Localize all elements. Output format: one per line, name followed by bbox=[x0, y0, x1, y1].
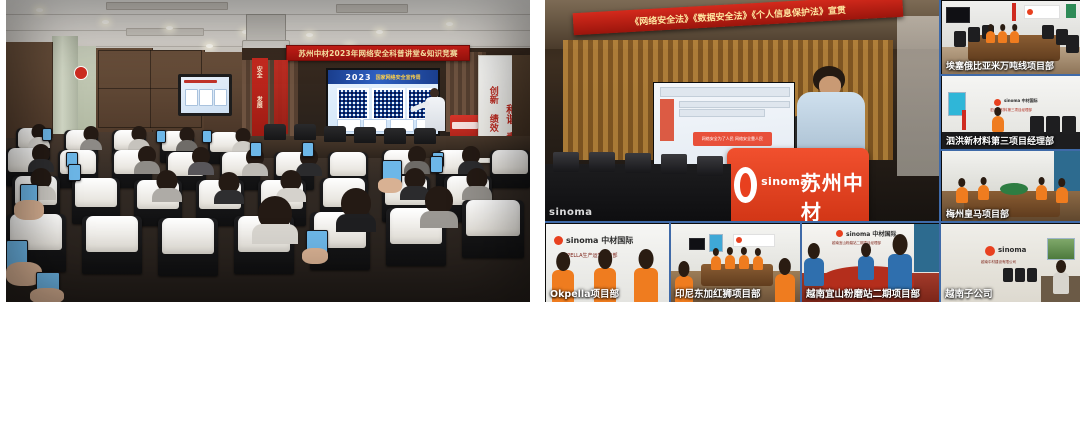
thumbnail-tile[interactable]: 印尼东加红狮项目部 bbox=[670, 223, 802, 302]
screen-row bbox=[679, 109, 765, 116]
downlight bbox=[166, 26, 173, 30]
side-screen-card bbox=[185, 89, 199, 106]
vertical-banner-red-text-2: 发展 bbox=[255, 96, 261, 108]
hand bbox=[378, 178, 402, 193]
thumbnail-tile[interactable]: 梅州皇马项目部 bbox=[941, 150, 1080, 224]
downlight bbox=[36, 8, 43, 12]
audience-member bbox=[462, 168, 492, 200]
slide-year-text: 2023 bbox=[345, 73, 371, 82]
smartphone bbox=[42, 128, 52, 141]
right-photo-video-conference: 《网络安全法》《数据安全法》《个人信息保护法》宣贯 网络安全为了人民 网络安全靠… bbox=[545, 0, 1080, 302]
grid-separator-horizontal bbox=[545, 221, 1080, 223]
smartphone bbox=[156, 130, 166, 143]
ac-vent bbox=[106, 2, 228, 10]
downlight bbox=[206, 44, 213, 48]
screen-row bbox=[679, 101, 790, 108]
side-screen-header-bar bbox=[184, 80, 218, 83]
thumbnail-tile[interactable]: sinoma 中材国际 OKPELLA生产运营项目部 Okpella项目部 bbox=[545, 223, 671, 302]
thumbnail-caption: 越南子公司 bbox=[945, 286, 993, 300]
backdrop-brand: sinoma bbox=[998, 246, 1026, 254]
audience-seat bbox=[82, 216, 142, 274]
grid-separator-vertical bbox=[939, 0, 941, 222]
delegate-monitor bbox=[661, 154, 687, 174]
delegate-monitor bbox=[697, 156, 723, 176]
thumbnail-tile[interactable]: sinoma 中材国际 泗洪新材料第三项目经理部 泗洪新材料第三项目经理部 bbox=[941, 75, 1080, 151]
thumbnail-caption: Okpella项目部 bbox=[550, 286, 619, 300]
downlight bbox=[446, 22, 453, 26]
head-chair bbox=[324, 126, 346, 142]
smartphone bbox=[302, 142, 314, 157]
grid-separator-vertical bbox=[800, 223, 802, 302]
thumbnail-caption: 印尼东加红狮项目部 bbox=[675, 286, 761, 300]
smartphone bbox=[430, 156, 443, 173]
vertical-banner-text-1: 创新 bbox=[487, 86, 497, 104]
grid-separator-vertical bbox=[669, 223, 671, 302]
downlight bbox=[376, 30, 383, 34]
wall-pillar bbox=[52, 36, 78, 134]
ac-vent bbox=[336, 4, 408, 13]
head-chair bbox=[414, 128, 436, 144]
downlight bbox=[306, 33, 313, 37]
thumbnail-tile[interactable]: 埃塞俄比亚米万吨线项目部 bbox=[941, 0, 1080, 76]
audience-seat bbox=[490, 150, 530, 188]
screen-toolbar bbox=[660, 87, 791, 97]
hand bbox=[302, 248, 328, 264]
audience-seat bbox=[158, 218, 218, 276]
audience-member bbox=[214, 172, 244, 204]
backdrop-brand: sinoma 中材国际 bbox=[846, 229, 896, 238]
grid-separator-horizontal bbox=[941, 149, 1080, 151]
no-smoking-sign-icon bbox=[74, 66, 88, 80]
audience-member bbox=[188, 147, 214, 175]
lectern-brand-cn: 苏州中材 bbox=[801, 167, 869, 223]
grid-separator-vertical bbox=[939, 223, 941, 302]
thumbnail-caption: 梅州皇马项目部 bbox=[946, 207, 1009, 220]
side-display-screen bbox=[178, 74, 232, 116]
thumbnail-caption: 泗洪新材料第三项目经理部 bbox=[946, 134, 1054, 147]
backdrop-brand: sinoma 中材国际 bbox=[566, 235, 633, 246]
smartphone bbox=[68, 164, 81, 181]
vertical-banner-red-2 bbox=[274, 60, 288, 134]
audience-seat bbox=[462, 200, 524, 258]
delegate-monitor bbox=[625, 153, 651, 173]
screen-highlight-text: 网络安全为了人民 网络安全靠人民 bbox=[702, 136, 763, 142]
wall-grid-line bbox=[150, 50, 151, 128]
feed-watermark: sinoma bbox=[549, 207, 593, 218]
lectern: sinoma 苏州中材 bbox=[727, 148, 869, 222]
slide-header: 2023 国家网络安全宣传周 bbox=[328, 70, 438, 84]
screenshot-root: 苏州中材2023年网络安全科普讲堂&知识竞赛 2023 国家网络安全宣传周 创新 bbox=[0, 0, 1080, 443]
thumbnail-caption: 越南宜山粉磨站二期项目部 bbox=[806, 286, 920, 300]
thumbnail-caption: 埃塞俄比亚米万吨线项目部 bbox=[946, 59, 1054, 72]
hand bbox=[30, 288, 64, 302]
smartphone bbox=[202, 130, 212, 143]
side-screen-card bbox=[214, 89, 228, 106]
podium-logo bbox=[452, 122, 477, 130]
smartphone bbox=[250, 142, 262, 157]
backdrop-subtitle: 越南中材建设有限公司 bbox=[981, 260, 1016, 265]
thumbnail-tile[interactable]: sinoma 越南中材建设有限公司 越南子公司 bbox=[940, 223, 1080, 302]
main-video-feed: 《网络安全法》《数据安全法》《个人信息保护法》宣贯 网络安全为了人民 网络安全靠… bbox=[545, 0, 940, 222]
thumbnail-tile[interactable]: sinoma 中材国际 越南宜山粉磨站二期项目经理部 越南宜山粉磨站二期项目部 bbox=[801, 223, 941, 302]
side-screen-card bbox=[199, 89, 213, 106]
head-chair bbox=[384, 128, 406, 144]
downlight bbox=[102, 20, 109, 24]
screen-highlight-box: 网络安全为了人民 网络安全靠人民 bbox=[693, 132, 771, 146]
audience-member bbox=[420, 186, 458, 228]
head-chair bbox=[264, 124, 286, 140]
left-photo-auditorium: 苏州中材2023年网络安全科普讲堂&知识竞赛 2023 国家网络安全宣传周 创新 bbox=[6, 0, 530, 302]
audience-member bbox=[152, 170, 182, 202]
sinoma-logo-icon bbox=[734, 167, 757, 203]
vertical-banner-text-2: 绩效 bbox=[487, 114, 497, 132]
stage-banner-text: 苏州中材2023年网络安全科普讲堂&知识竞赛 bbox=[298, 48, 457, 59]
head-chair bbox=[294, 124, 316, 140]
stage-banner: 苏州中材2023年网络安全科普讲堂&知识竞赛 bbox=[286, 45, 470, 61]
backdrop-subtitle: 越南宜山粉磨站二期项目经理部 bbox=[832, 241, 881, 246]
screen-side-panel bbox=[660, 99, 674, 141]
ac-vent bbox=[126, 28, 204, 36]
head-chair bbox=[354, 127, 376, 143]
audience-member-foreground bbox=[252, 196, 298, 244]
hand bbox=[14, 200, 44, 220]
slide-subtitle-text: 国家网络安全宣传周 bbox=[376, 74, 421, 81]
qr-code bbox=[372, 88, 405, 120]
qr-code bbox=[337, 88, 370, 120]
right-wall bbox=[512, 55, 530, 147]
vertical-banner-red-text-1: 安全 bbox=[255, 66, 261, 78]
side-wall-banner bbox=[897, 16, 939, 176]
delegate-monitor bbox=[553, 152, 579, 172]
audience-member bbox=[80, 126, 102, 150]
grid-separator-horizontal bbox=[941, 74, 1080, 76]
delegate-monitor bbox=[589, 152, 615, 172]
audience-member bbox=[336, 188, 376, 232]
green-wall-strip bbox=[78, 46, 96, 132]
